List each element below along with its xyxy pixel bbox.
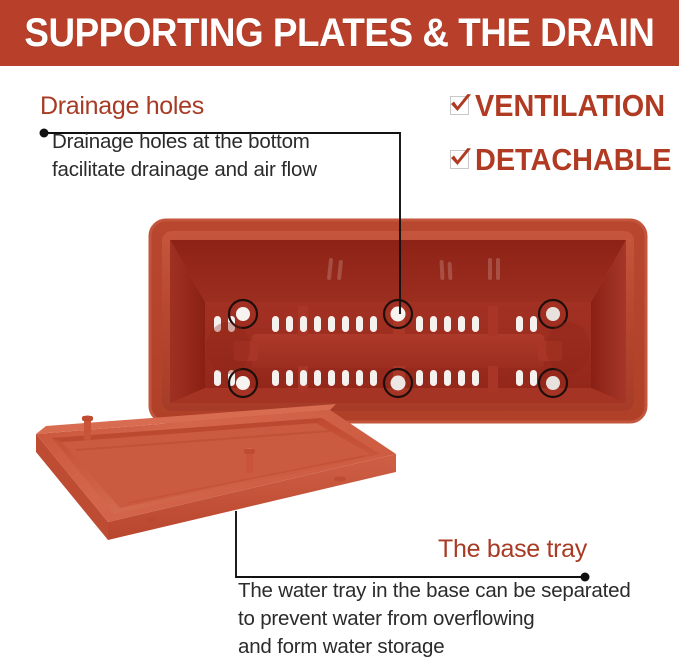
base-tray-svg bbox=[0, 404, 400, 554]
check-mark-icon bbox=[448, 93, 474, 117]
header-banner: SUPPORTING PLATES & THE DRAIN bbox=[0, 0, 679, 66]
annotation-title: The base tray bbox=[236, 535, 679, 564]
annotation-body-line: facilitate drainage and air flow bbox=[52, 156, 420, 184]
feature-badge-label: DETACHABLE bbox=[475, 144, 671, 175]
feature-badge-detachable: DETACHABLE bbox=[448, 140, 679, 178]
page-title: SUPPORTING PLATES & THE DRAIN bbox=[25, 13, 655, 53]
annotation-body-line: to prevent water from overflowing bbox=[238, 605, 679, 633]
feature-badge-list: VENTILATION DETACHABLE bbox=[448, 86, 679, 194]
check-mark-icon bbox=[448, 147, 474, 171]
checkbox-checked-icon bbox=[448, 93, 474, 117]
feature-badge-ventilation: VENTILATION bbox=[448, 86, 679, 124]
base-tray-image bbox=[0, 404, 400, 554]
annotation-body: Drainage holes at the bottom facilitate … bbox=[52, 128, 420, 185]
annotation-title: Drainage holes bbox=[40, 92, 420, 121]
annotation-body-line: and form water storage bbox=[238, 633, 679, 661]
annotation-body: The water tray in the base can be separa… bbox=[238, 577, 679, 662]
annotation-drainage-holes: Drainage holes Drainage holes at the bot… bbox=[40, 92, 420, 184]
annotation-body-line: The water tray in the base can be separa… bbox=[238, 577, 679, 605]
planter-box-svg bbox=[148, 218, 648, 426]
planter-box-image bbox=[148, 218, 648, 426]
checkbox-checked-icon bbox=[448, 147, 474, 171]
feature-badge-label: VENTILATION bbox=[475, 90, 665, 121]
annotation-base-tray: The base tray The water tray in the base… bbox=[236, 535, 679, 662]
annotation-body-line: Drainage holes at the bottom bbox=[52, 128, 420, 156]
